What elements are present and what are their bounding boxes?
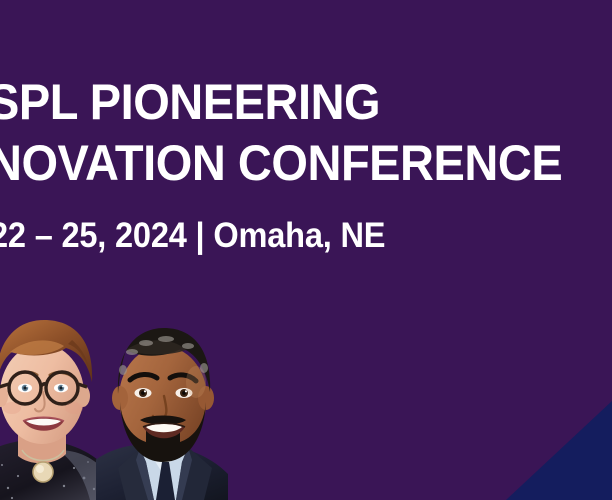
- headline-block: SPL PIONEERING NOVATION CONFERENCE: [0, 72, 612, 193]
- headline-line-1: SPL PIONEERING: [0, 72, 601, 132]
- speaker-photo-left: [0, 310, 106, 500]
- speaker-photo-group: [0, 300, 240, 500]
- speaker-photo-right: [96, 322, 232, 500]
- navy-triangle-accent-icon: [506, 401, 612, 500]
- headline-line-2: NOVATION CONFERENCE: [0, 133, 601, 193]
- event-date-location: 22 – 25, 2024 | Omaha, NE: [0, 214, 385, 258]
- conference-banner: SPL PIONEERING NOVATION CONFERENCE 22 – …: [0, 0, 612, 500]
